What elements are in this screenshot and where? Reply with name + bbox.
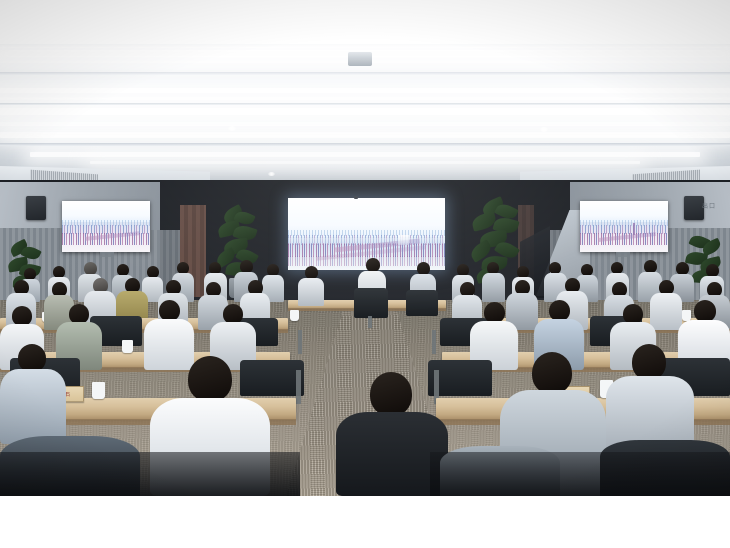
- desk-leg: [432, 330, 436, 354]
- paper-cup: [92, 382, 105, 399]
- list-item: [482, 262, 505, 302]
- right-monitor-sky: [580, 201, 668, 222]
- left-monitor-sky: [62, 201, 150, 222]
- list-item: [606, 344, 694, 454]
- linear-fluorescent-strip: [0, 122, 730, 126]
- linear-fluorescent-strip: [0, 88, 730, 93]
- front-row-attendee: [298, 266, 324, 306]
- conference-room-photo: 出口 出口: [0, 0, 730, 496]
- right-side-monitor[interactable]: [580, 201, 668, 252]
- chair-base: [368, 316, 372, 328]
- paper-cup: [122, 340, 133, 353]
- ceiling-plane-upper: [0, 0, 730, 44]
- screenshot-root: 出口 出口: [0, 0, 730, 548]
- ceiling-rail: [0, 103, 730, 105]
- right-monitor-tower: [633, 223, 636, 234]
- main-screen-center-mark: [354, 196, 358, 199]
- ceiling-reveal-1: [0, 44, 730, 48]
- exit-sign-text: 出口: [702, 201, 716, 210]
- conference-chair: [406, 290, 438, 316]
- linear-fluorescent-strip: [0, 132, 730, 138]
- ceiling-downlight: [228, 126, 236, 131]
- ceiling-rail: [0, 143, 730, 146]
- ceiling-downlight: [540, 127, 548, 132]
- foreground-shadow: [0, 452, 300, 496]
- wall-speaker: [26, 196, 46, 220]
- conference-chair: [354, 288, 388, 318]
- ceiling-downlight: [268, 172, 275, 176]
- ceiling-projector: [348, 52, 372, 66]
- linear-fluorescent-strip: [90, 161, 640, 164]
- right-monitor-content: [580, 201, 668, 252]
- left-side-monitor[interactable]: [62, 201, 150, 252]
- list-item: [0, 344, 66, 444]
- linear-fluorescent-strip: [0, 108, 730, 115]
- paper-cup: [290, 310, 299, 321]
- linear-fluorescent-strip: [0, 97, 730, 100]
- left-monitor-content: [62, 201, 150, 252]
- linear-fluorescent-strip: [30, 152, 700, 157]
- ceiling-rail: [0, 72, 730, 75]
- page-bottom-margin: [0, 496, 730, 548]
- desk-leg: [296, 370, 301, 404]
- desk-leg: [298, 330, 302, 354]
- screen-highlight-tower: [398, 235, 409, 244]
- foreground-shadow-right: [430, 452, 730, 496]
- left-monitor-mount: [100, 252, 114, 257]
- right-monitor-mount: [616, 252, 630, 257]
